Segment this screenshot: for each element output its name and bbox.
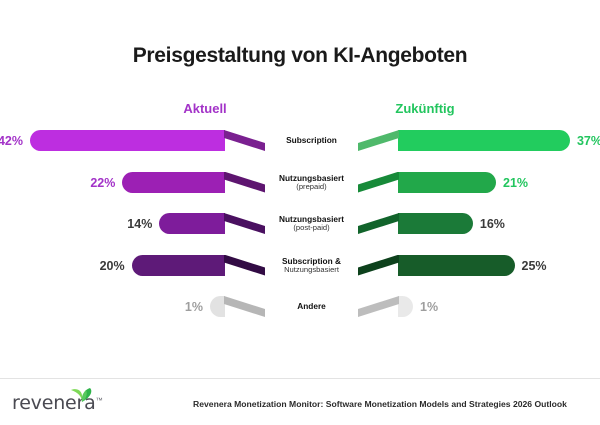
bar-body [122,172,225,193]
category-label-sub: (post-paid) [293,224,329,233]
bar-shape [30,130,265,151]
source-caption: Revenera Monetization Monitor: Software … [168,399,592,409]
chart-row: 42%37%Subscription [0,124,600,158]
bar-value-label: 20% [65,249,125,283]
bar-value-label: 1% [143,290,203,324]
bar-body [159,213,225,234]
bar-depth-wedge [358,213,399,234]
bar-value-label: 42% [0,124,23,158]
bar-depth-wedge [224,296,265,317]
bar-body [398,255,515,276]
bar-value-label: 37% [577,124,600,158]
bar-value-label: 16% [480,207,540,241]
bar-shape [358,172,496,193]
bar-depth-wedge [358,172,399,193]
bar-depth-wedge [224,213,265,234]
bar-value-label: 21% [503,166,563,200]
bar-right [358,296,413,317]
bar-right [358,172,496,193]
bar-shape [132,255,265,276]
bar-depth-wedge [224,172,265,193]
category-label-sub: (prepaid) [296,183,326,192]
bar-left [159,213,265,234]
bar-depth-wedge [224,255,265,276]
bar-body [30,130,225,151]
bar-value-label: 1% [420,290,480,324]
footer-divider [0,378,600,379]
leaf-icon [69,387,95,403]
bar-depth-wedge [358,255,399,276]
bar-body [398,213,473,234]
bar-value-label: 14% [92,207,152,241]
chart-row: 1%1%Andere [0,290,600,324]
bar-body [398,296,413,317]
bar-body [210,296,225,317]
bar-shape [210,296,265,317]
chart-container: Preisgestaltung von KI-Angeboten Aktuell… [0,0,600,425]
bar-right [358,255,515,276]
bar-left [132,255,265,276]
category-label: Subscription &Nutzungsbasiert [265,249,358,283]
bar-shape [159,213,265,234]
bar-shape [358,130,570,151]
category-label: Subscription [265,124,358,158]
category-label: Nutzungsbasiert(prepaid) [265,166,358,200]
bar-right [358,130,570,151]
category-label: Nutzungsbasiert(post-paid) [265,207,358,241]
category-label: Andere [265,290,358,324]
bar-right [358,213,473,234]
page-title: Preisgestaltung von KI-Angeboten [0,44,600,68]
bar-left [30,130,265,151]
bar-value-label: 22% [55,166,115,200]
bar-depth-wedge [224,130,265,151]
category-label-main: Andere [297,302,326,311]
bar-depth-wedge [358,130,399,151]
bar-shape [358,213,473,234]
chart-row: 20%25%Subscription &Nutzungsbasiert [0,249,600,283]
bar-depth-wedge [358,296,399,317]
bar-shape [358,296,413,317]
category-label-main: Subscription [286,136,337,145]
bar-body [398,130,570,151]
bar-shape [122,172,265,193]
bar-body [398,172,496,193]
bar-shape [358,255,515,276]
bar-value-label: 25% [522,249,582,283]
column-header-aktuell: Aktuell [150,101,260,116]
trademark-symbol: ™ [96,398,103,405]
column-header-zukuenftig: Zukünftig [370,101,480,116]
revenera-logo: revenera™ [12,392,103,414]
bar-body [132,255,225,276]
category-label-sub: Nutzungsbasiert [284,266,339,275]
bar-left [210,296,265,317]
chart-row: 14%16%Nutzungsbasiert(post-paid) [0,207,600,241]
bar-left [122,172,265,193]
chart-row: 22%21%Nutzungsbasiert(prepaid) [0,166,600,200]
